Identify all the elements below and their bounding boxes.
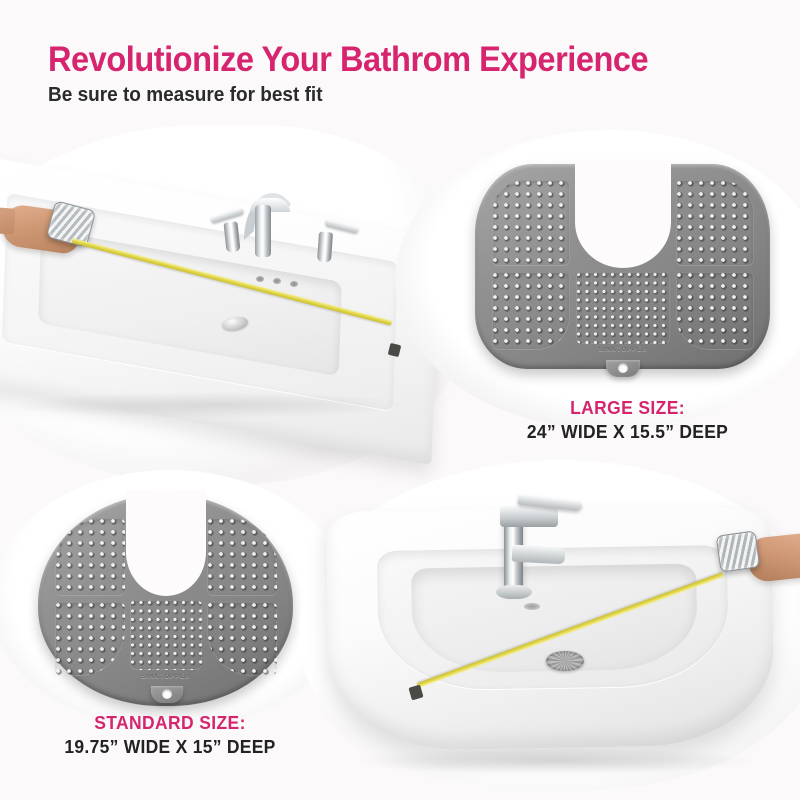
large-mat-faucet-notch xyxy=(575,160,671,268)
faucet-spout-bottom-right xyxy=(512,545,566,565)
standard-mat-panel-lower-right xyxy=(207,602,277,676)
product-standard-mat-panel: SINKTOPPER xyxy=(20,480,320,730)
large-mat-panel-center xyxy=(576,272,670,344)
large-sink-mat[interactable]: SINKTOPPER xyxy=(475,164,770,369)
rounded-sink-drain xyxy=(546,651,584,671)
caption-large-dimensions: 24” WIDE X 15.5” DEEP xyxy=(460,422,795,443)
page-title: Revolutionize Your Bathrom Experience xyxy=(48,40,648,80)
standard-mat-brand-emboss: SINKTOPPER xyxy=(130,674,202,680)
large-mat-panel-lower-right xyxy=(676,272,754,350)
standard-mat-panel-center xyxy=(130,600,202,670)
large-mat-panel-lower-left xyxy=(492,272,570,350)
large-mat-hang-hole xyxy=(618,363,628,373)
faucet-base-bottom-right xyxy=(496,585,532,599)
caption-standard-size: STANDARD SIZE: 19.75” WIDE X 15” DEEP xyxy=(10,713,330,758)
faucet-spout-top-left xyxy=(255,205,271,257)
caption-standard-dimensions: 19.75” WIDE X 15” DEEP xyxy=(15,737,325,758)
standard-mat-hang-hole xyxy=(162,689,172,699)
standard-mat-panel-upper-left xyxy=(55,518,125,596)
standard-mat-panel-lower-left xyxy=(55,602,125,676)
caption-standard-title: STANDARD SIZE: xyxy=(15,713,325,734)
standard-sink-mat[interactable]: SINKTOPPER xyxy=(38,494,293,706)
large-mat-panel-upper-left xyxy=(492,180,570,266)
product-infographic: Revolutionize Your Bathrom Experience Be… xyxy=(0,0,800,800)
large-mat-brand-emboss: SINKTOPPER xyxy=(576,347,670,353)
large-mat-panel-upper-right xyxy=(676,180,754,266)
standard-mat-faucet-notch xyxy=(126,490,206,596)
caption-large-size: LARGE SIZE: 24” WIDE X 15.5” DEEP xyxy=(455,398,800,443)
caption-large-title: LARGE SIZE: xyxy=(460,398,795,419)
rounded-sink-overflow xyxy=(524,603,540,610)
sink-overflow-holes xyxy=(256,272,316,284)
standard-mat-panel-upper-right xyxy=(207,518,277,596)
header: Revolutionize Your Bathrom Experience Be… xyxy=(0,0,800,125)
page-subtitle: Be sure to measure for best fit xyxy=(48,84,323,107)
faucet-handle-left xyxy=(223,221,240,252)
rectangular-sink-shadow xyxy=(10,392,410,418)
faucet-handle-right xyxy=(317,232,333,263)
faucet-head-bottom-right xyxy=(500,505,558,527)
tape-measure-body-bottom-right xyxy=(716,530,761,572)
rounded-sink-shadow xyxy=(355,748,755,774)
